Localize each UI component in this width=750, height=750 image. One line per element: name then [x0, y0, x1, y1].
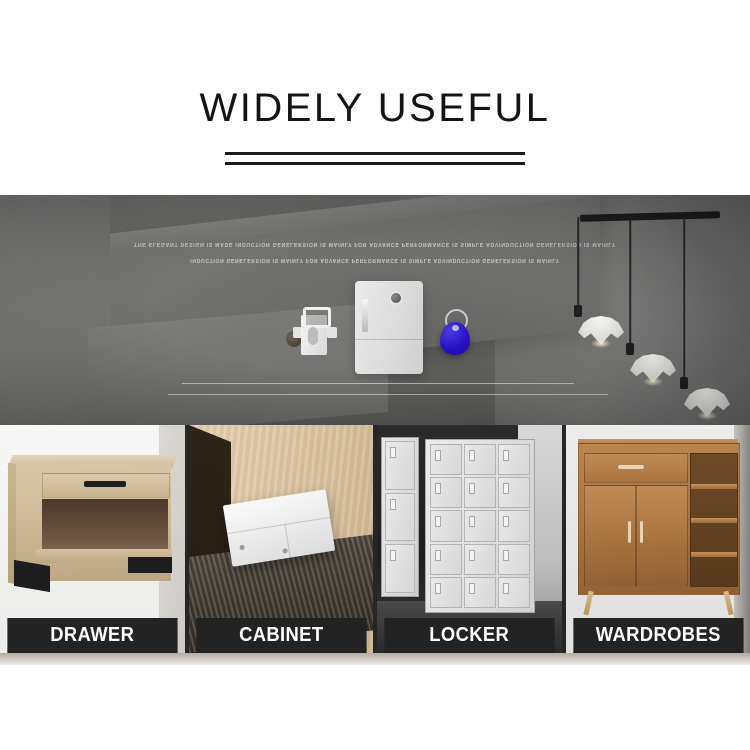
- wardrobe-shelf-divider: [691, 518, 737, 523]
- thumbnail-locker[interactable]: LOCKER: [377, 425, 562, 653]
- locker-unit-main: [425, 439, 535, 613]
- lock-seam-horizontal: [227, 517, 330, 534]
- wardrobe-open-shelves: [690, 453, 738, 587]
- wardrobe-handle-right: [640, 521, 643, 543]
- locker-cell: [430, 444, 462, 475]
- locker-cell: [464, 577, 496, 608]
- hero-banner: THE ELEGANT DESIGN IS MADE INDUCTION GEN…: [0, 195, 750, 425]
- thumbnail-wardrobes[interactable]: WARDROBES: [566, 425, 750, 653]
- locker-cell: [464, 510, 496, 541]
- thumbnail-label-wardrobes: WARDROBES: [573, 618, 743, 653]
- nightstand-handle: [84, 481, 126, 487]
- wardrobe-door-right: [636, 485, 688, 587]
- wardrobe-shelf-divider: [691, 552, 737, 557]
- thumbnail-label-locker: LOCKER: [384, 618, 554, 653]
- locker-cell: [498, 544, 530, 575]
- locker-cell: [430, 544, 462, 575]
- nightstand-open-shelf: [42, 499, 168, 551]
- bottom-image-remnant: [0, 653, 750, 665]
- lock-screw-1: [239, 545, 245, 551]
- thumbnail-label-cabinet: CABINET: [196, 618, 366, 653]
- locker-cell: [498, 510, 530, 541]
- wardrobe-drawer-handle: [618, 465, 644, 469]
- locker-cell: [385, 544, 415, 593]
- locker-unit-narrow: [381, 437, 419, 597]
- locker-main-grid: [430, 444, 530, 608]
- locker-cell: [464, 477, 496, 508]
- hero-vignette: [0, 195, 750, 425]
- nightstand-base-right: [128, 557, 172, 573]
- thumbnail-cabinet[interactable]: CABINET: [189, 425, 374, 653]
- thumbnail-drawer[interactable]: DRAWER: [0, 425, 185, 653]
- locker-narrow-grid: [385, 441, 415, 593]
- wardrobe-shelf-divider: [691, 484, 737, 489]
- page-title: WIDELY USEFUL: [0, 88, 750, 128]
- locker-cell: [464, 444, 496, 475]
- title-divider: [225, 152, 525, 165]
- application-thumbnail-row: DRAWER CABINET: [0, 425, 750, 653]
- locker-cell: [430, 477, 462, 508]
- locker-cell: [464, 544, 496, 575]
- locker-cell: [498, 477, 530, 508]
- locker-cell: [498, 444, 530, 475]
- locker-cell: [498, 577, 530, 608]
- locker-cell: [385, 441, 415, 490]
- locker-cell: [430, 510, 462, 541]
- locker-cell: [385, 493, 415, 542]
- thumbnail-label-drawer: DRAWER: [7, 618, 177, 653]
- locker-cell: [430, 577, 462, 608]
- page-header: WIDELY USEFUL: [0, 0, 750, 165]
- wardrobe-handle-left: [628, 521, 631, 543]
- lock-screw-2: [282, 548, 288, 554]
- footer-whitespace: [0, 665, 750, 750]
